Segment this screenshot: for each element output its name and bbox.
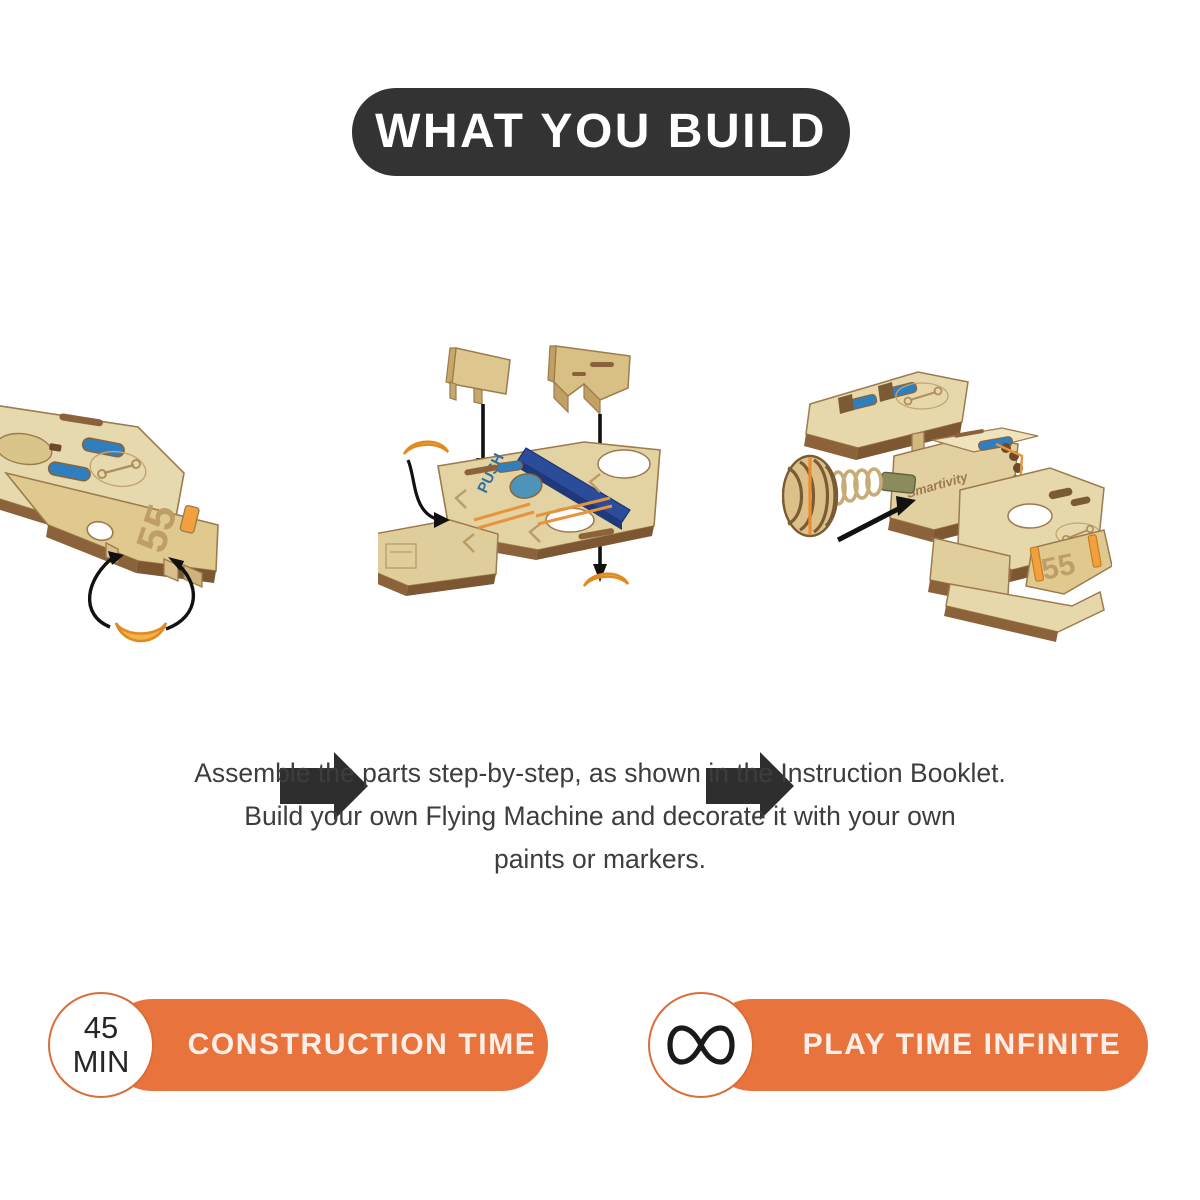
duration-value: 45 xyxy=(84,1011,118,1045)
play-time-pill: PLAY TIME INFINITE xyxy=(706,999,1148,1091)
construction-time-label: CONSTRUCTION TIME xyxy=(188,1030,537,1060)
infographic-page: WHAT YOU BUILD xyxy=(0,0,1200,1200)
step-1-illustration: 55 xyxy=(0,365,263,650)
rubber-band-right xyxy=(584,574,628,586)
detached-tail-plate xyxy=(548,346,630,414)
turbine-propeller xyxy=(783,456,837,536)
build-steps-illustration: 55 xyxy=(0,330,1200,650)
description-line-3: paints or markers. xyxy=(60,838,1140,881)
play-time-label: PLAY TIME INFINITE xyxy=(803,1030,1122,1060)
detached-wing-plate-small xyxy=(446,348,510,404)
play-time-badge: PLAY TIME INFINITE xyxy=(648,992,1148,1098)
step-3-illustration: Smartivity xyxy=(782,348,1112,648)
description-line-2: Build your own Flying Machine and decora… xyxy=(60,795,1140,838)
step-2-illustration: PUSH xyxy=(378,338,668,628)
description-line-1: Assemble the parts step-by-step, as show… xyxy=(60,752,1140,795)
header-pill: WHAT YOU BUILD xyxy=(352,88,850,176)
body-base-plate: PUSH xyxy=(378,442,660,596)
duration-unit: MIN xyxy=(73,1045,130,1079)
infinity-icon xyxy=(666,1022,736,1068)
construction-time-badge: CONSTRUCTION TIME 45 MIN xyxy=(48,992,548,1098)
infinity-badge-circle xyxy=(648,992,754,1098)
duration-icon: 45 MIN xyxy=(48,992,154,1098)
description-text: Assemble the parts step-by-step, as show… xyxy=(60,752,1140,881)
feature-badges: CONSTRUCTION TIME 45 MIN PLAY TIME INFIN… xyxy=(0,985,1200,1115)
construction-time-pill: CONSTRUCTION TIME xyxy=(106,999,548,1091)
number-55-marking-rear: 55 xyxy=(1039,548,1079,587)
page-title: WHAT YOU BUILD xyxy=(375,108,827,156)
orange-rubber-band xyxy=(116,623,166,641)
